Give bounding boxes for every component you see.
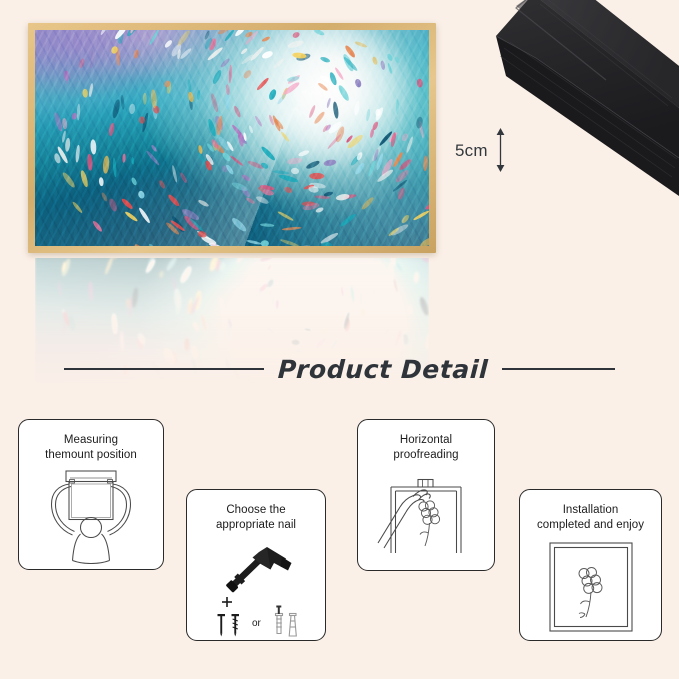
step-title-line-2: completed and enjoy: [537, 518, 644, 533]
step-card-installation-complete: Installation completed and enjoy: [519, 489, 662, 641]
step-title-line-1: Horizontal: [393, 433, 458, 448]
step-illustration-wrap: [520, 534, 661, 640]
artwork-gold-frame: [28, 23, 436, 253]
step-title-line-1: Choose the: [216, 503, 296, 518]
step-card-title: Horizontal proofreading: [385, 433, 466, 464]
step-title-line-2: proofreading: [393, 448, 458, 463]
heading-rule-left: [64, 368, 264, 370]
step-illustration-wrap: [358, 464, 494, 570]
step-card-title: Measuring themount position: [37, 433, 145, 464]
artwork-canvas: [35, 30, 429, 246]
person-holding-frame-measuring-icon: [39, 468, 143, 564]
product-detail-heading: Product Detail: [0, 348, 679, 390]
painting-brush-texture: [35, 30, 429, 246]
double-arrow-vertical-icon: [494, 128, 507, 172]
step-card-title: Choose the appropriate nail: [208, 503, 304, 534]
hero-section: 5cm: [0, 0, 679, 400]
framed-flower-picture-icon: [544, 539, 638, 635]
hand-leveling-frame-icon: [373, 471, 479, 563]
measurement-label: 5cm: [455, 142, 488, 159]
step-title-line-2: appropriate nail: [216, 518, 296, 533]
step-illustration-wrap: [19, 464, 163, 569]
step-illustration-wrap: or: [187, 534, 325, 640]
step-card-measuring: Measuring themount position: [18, 419, 164, 570]
nail-or-label: or: [252, 618, 261, 629]
frame-depth-measurement: 5cm: [455, 128, 507, 172]
step-title-line-1: Installation: [537, 503, 644, 518]
product-detail-page: 5cm Product Detail Measuring themount po…: [0, 0, 679, 679]
step-title-line-1: Measuring: [45, 433, 137, 448]
step-card-horizontal-proofreading: Horizontal proofreading: [357, 419, 495, 571]
step-card-choose-nail: Choose the appropriate nail: [186, 489, 326, 641]
heading-rule-right: [502, 368, 615, 370]
page-title: Product Detail: [277, 355, 489, 384]
step-title-line-2: themount position: [45, 448, 137, 463]
step-card-title: Installation completed and enjoy: [529, 503, 652, 534]
